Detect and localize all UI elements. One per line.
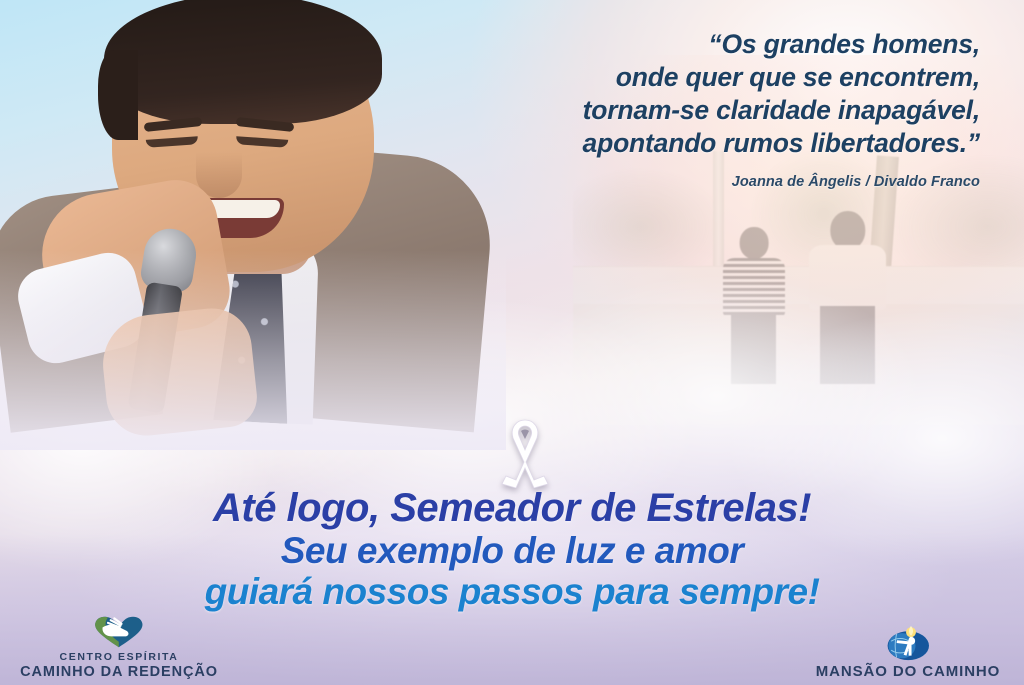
logo-centro-espirita-caminho-da-redencao: CENTRO ESPÍRITA CAMINHO DA REDENÇÃO [14,613,224,681]
heart-hands-logo-icon [90,613,148,649]
headline-block: Até logo, Semeador de Estrelas! Seu exem… [0,486,1024,612]
globe-figure-flame-logo-icon [884,625,933,661]
child-head-shape [740,227,769,259]
logo-mansao-do-caminho: MANSÃO DO CAMINHO [802,625,1014,681]
quote-line-4: apontando rumos libertadores.” [340,127,980,160]
quote-author: Joanna de Ângelis / Divaldo Franco [340,174,980,190]
logo-left-line-2: CAMINHO DA REDENÇÃO [20,664,218,681]
logo-right-line-1: MANSÃO DO CAMINHO [816,663,1000,681]
logo-left-text: CENTRO ESPÍRITA CAMINHO DA REDENÇÃO [20,651,218,681]
memorial-tribute-card: “Os grandes homens, onde quer que se enc… [0,0,1024,685]
quote-line-1: “Os grandes homens, [340,28,980,61]
headline-line-2: Seu exemplo de luz e amor [0,530,1024,571]
headline-line-3: guiará nossos passos para sempre! [0,571,1024,612]
logo-right-text: MANSÃO DO CAMINHO [816,663,1000,681]
logo-left-line-1: CENTRO ESPÍRITA [20,651,218,664]
quote-line-2: onde quer que se encontrem, [340,61,980,94]
headline-line-1: Até logo, Semeador de Estrelas! [0,486,1024,530]
white-mourning-ribbon-icon [494,412,556,488]
portrait-fade-overlay [0,250,506,450]
quote-block: “Os grandes homens, onde quer que se enc… [340,28,980,190]
quote-line-3: tornam-se claridade inapagável, [340,94,980,127]
